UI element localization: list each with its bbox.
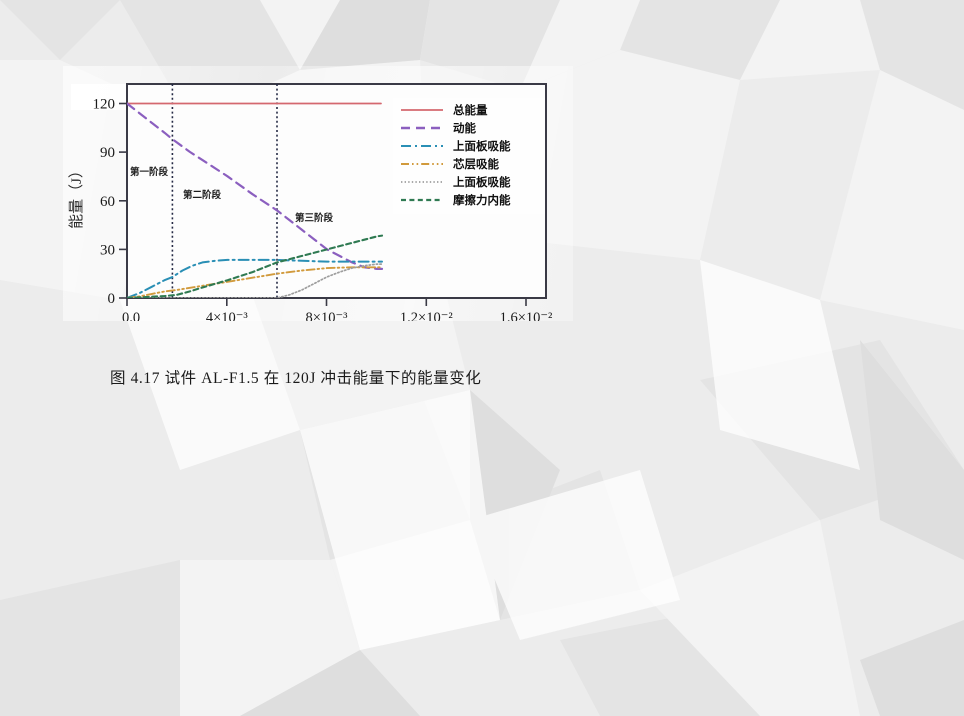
annotation-stage-2: 第二阶段 bbox=[183, 189, 222, 201]
x-tick-label-0: 0.0 bbox=[122, 310, 140, 321]
annotation-stage-1: 第一阶段 bbox=[130, 166, 169, 178]
x-tick-label-2: 8×10⁻³ bbox=[306, 310, 349, 321]
y-axis-title: 能量（J） bbox=[68, 163, 85, 229]
x-axis: 0.0 4×10⁻³ 8×10⁻³ 1.2×10⁻² 1.6×10⁻² bbox=[122, 298, 553, 321]
y-axis: 0 30 60 90 120 能量（J） bbox=[68, 97, 127, 308]
y-tick-label-90: 90 bbox=[100, 145, 115, 161]
y-tick-label-60: 60 bbox=[100, 194, 115, 210]
y-tick-label-0: 0 bbox=[108, 291, 116, 307]
legend-label-core-absorption: 芯层吸能 bbox=[453, 157, 499, 171]
legend-label-total-energy: 总能量 bbox=[453, 103, 488, 117]
figure-caption: 图 4.17 试件 AL-F1.5 在 120J 冲击能量下的能量变化 bbox=[110, 366, 630, 388]
x-tick-label-1: 4×10⁻³ bbox=[206, 310, 249, 321]
y-tick-label-120: 120 bbox=[93, 97, 116, 113]
energy-time-chart: 0 30 60 90 120 能量（J） 0.0 4×10⁻³ 8×10⁻³ 1… bbox=[63, 66, 573, 321]
y-tick-label-30: 30 bbox=[100, 242, 115, 258]
x-tick-label-4: 1.6×10⁻² bbox=[500, 310, 553, 321]
annotation-stage-3: 第三阶段 bbox=[295, 212, 334, 224]
x-tick-label-3: 1.2×10⁻² bbox=[400, 310, 453, 321]
legend-label-friction-internal-energy: 摩擦力内能 bbox=[453, 193, 511, 207]
legend-label-kinetic-energy: 动能 bbox=[453, 121, 476, 135]
figure-image: 0 30 60 90 120 能量（J） 0.0 4×10⁻³ 8×10⁻³ 1… bbox=[63, 66, 573, 321]
legend-label-lower-panel-absorption: 上面板吸能 bbox=[453, 175, 511, 189]
chart-legend: 总能量 动能 上面板吸能 芯层吸能 上面板吸能 摩擦力内能 bbox=[393, 98, 545, 214]
legend-label-top-panel-absorption: 上面板吸能 bbox=[453, 139, 511, 153]
